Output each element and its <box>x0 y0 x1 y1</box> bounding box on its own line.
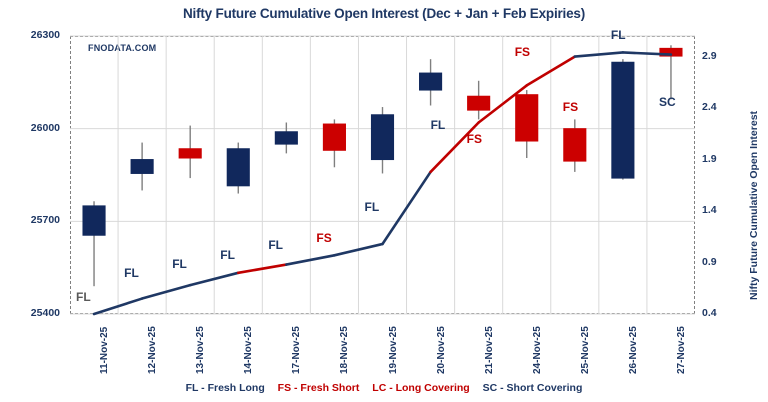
x-tick-4: 17-Nov-25 <box>291 326 302 374</box>
candlestick <box>420 59 442 105</box>
y-right-tick-0: 0.4 <box>702 307 717 319</box>
annotation-fl-0: FL <box>76 290 91 304</box>
y-left-tick-1: 25700 <box>8 214 60 226</box>
x-tick-1: 12-Nov-25 <box>147 326 158 374</box>
candlestick <box>323 119 345 167</box>
chart-graphics <box>0 0 768 402</box>
candlestick <box>612 59 634 179</box>
x-tick-9: 24-Nov-25 <box>532 326 543 374</box>
annotation-fs-5: FS <box>316 231 331 245</box>
annotation-fl-11: FL <box>611 28 626 42</box>
y-left-tick-3: 26300 <box>8 29 60 41</box>
candlestick <box>131 143 153 191</box>
candlestick <box>468 81 490 120</box>
y-right-tick-5: 2.9 <box>702 50 717 62</box>
annotation-fl-2: FL <box>172 257 187 271</box>
annotation-fl-7: FL <box>431 118 446 132</box>
legend-short-covering: SC - Short Covering <box>483 382 583 394</box>
annotation-fs-8: FS <box>467 132 482 146</box>
y-right-tick-4: 2.4 <box>702 101 717 113</box>
legend-footer: FL - Fresh Long FS - Fresh Short LC - Lo… <box>0 382 768 394</box>
x-tick-3: 14-Nov-25 <box>243 326 254 374</box>
x-tick-2: 13-Nov-25 <box>195 326 206 374</box>
annotation-fs-10: FS <box>563 100 578 114</box>
x-tick-5: 18-Nov-25 <box>339 326 350 374</box>
y-right-tick-1: 0.9 <box>702 256 717 268</box>
annotation-fl-1: FL <box>124 266 139 280</box>
x-tick-0: 11-Nov-25 <box>99 327 110 374</box>
candlestick <box>516 90 538 158</box>
annotation-sc-12: SC <box>659 95 676 109</box>
candlestick <box>83 201 105 286</box>
candlestick <box>371 107 393 173</box>
x-tick-8: 21-Nov-25 <box>484 326 495 374</box>
x-tick-11: 26-Nov-25 <box>628 326 639 374</box>
x-tick-7: 20-Nov-25 <box>436 326 447 374</box>
y-right-tick-3: 1.9 <box>702 153 717 165</box>
legend-fresh-long: FL - Fresh Long <box>186 382 265 394</box>
annotation-fl-3: FL <box>220 248 235 262</box>
candlestick <box>564 119 586 172</box>
candlestick <box>275 122 297 153</box>
y-left-tick-2: 26000 <box>8 122 60 134</box>
candlestick <box>179 126 201 179</box>
x-tick-12: 27-Nov-25 <box>676 326 687 374</box>
annotation-fl-4: FL <box>268 238 283 252</box>
annotation-fl-6: FL <box>365 200 380 214</box>
legend-fresh-short: FS - Fresh Short <box>278 382 360 394</box>
y-right-tick-2: 1.4 <box>702 204 717 216</box>
chart-container: Nifty Future Cumulative Open Interest (D… <box>0 0 768 402</box>
x-tick-10: 25-Nov-25 <box>580 326 591 374</box>
candlestick <box>227 143 249 194</box>
legend-long-covering: LC - Long Covering <box>372 382 469 394</box>
x-tick-6: 19-Nov-25 <box>388 326 399 374</box>
y-left-tick-0: 25400 <box>8 307 60 319</box>
annotation-fs-9: FS <box>515 45 530 59</box>
